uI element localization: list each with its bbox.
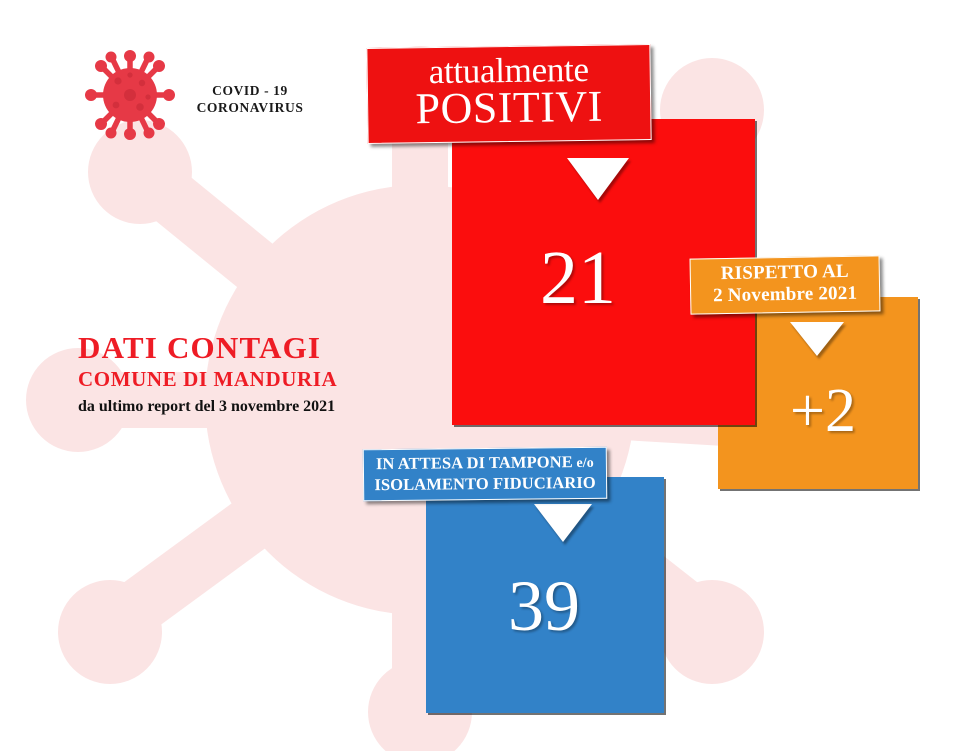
coronavirus-icon xyxy=(80,45,180,145)
covid-stats-poster: COVID - 19 CORONAVIRUS DATI CONTAGI COMU… xyxy=(0,0,960,751)
stat-label-line1-rispetto-al: RISPETTO AL xyxy=(699,261,871,286)
page-title: DATI CONTAGI xyxy=(78,332,337,365)
stat-label-line2-isolamento: ISOLAMENTO FIDUCIARIO xyxy=(370,472,600,494)
title-block: DATI CONTAGI COMUNE DI MANDURIA da ultim… xyxy=(78,332,337,416)
stat-label-line2-positivi: POSITIVI xyxy=(378,84,641,133)
stat-label-eo: e/o xyxy=(576,456,594,471)
stat-value-rispetto-al: +2 xyxy=(790,380,856,442)
stat-label-rispetto-al: RISPETTO AL 2 Novembre 2021 xyxy=(690,255,881,314)
notch-triangle-red-icon xyxy=(567,158,629,200)
stat-label-line1-tampone-main: IN ATTESA DI TAMPONE xyxy=(376,452,573,473)
stat-label-in-attesa-tampone: IN ATTESA DI TAMPONE e/o ISOLAMENTO FIDU… xyxy=(363,447,608,502)
stat-label-attualmente-positivi: attualmente POSITIVI xyxy=(366,44,651,144)
stat-value-attualmente-positivi: 21 xyxy=(540,240,616,316)
stat-value-in-attesa-tampone: 39 xyxy=(508,570,580,642)
logo-group: COVID - 19 CORONAVIRUS xyxy=(80,45,310,155)
logo-label-line1: COVID - 19 xyxy=(190,83,310,100)
stat-label-line1-tampone: IN ATTESA DI TAMPONE e/o xyxy=(370,452,600,475)
stat-label-line2-data: 2 Novembre 2021 xyxy=(699,282,871,307)
page-subtitle: COMUNE DI MANDURIA xyxy=(78,367,337,392)
logo-label-line2: CORONAVIRUS xyxy=(190,100,310,117)
notch-triangle-orange-icon xyxy=(790,322,844,356)
notch-triangle-blue-icon xyxy=(534,504,592,542)
report-date-note: da ultimo report del 3 novembre 2021 xyxy=(78,397,337,416)
logo-label: COVID - 19 CORONAVIRUS xyxy=(190,83,310,117)
